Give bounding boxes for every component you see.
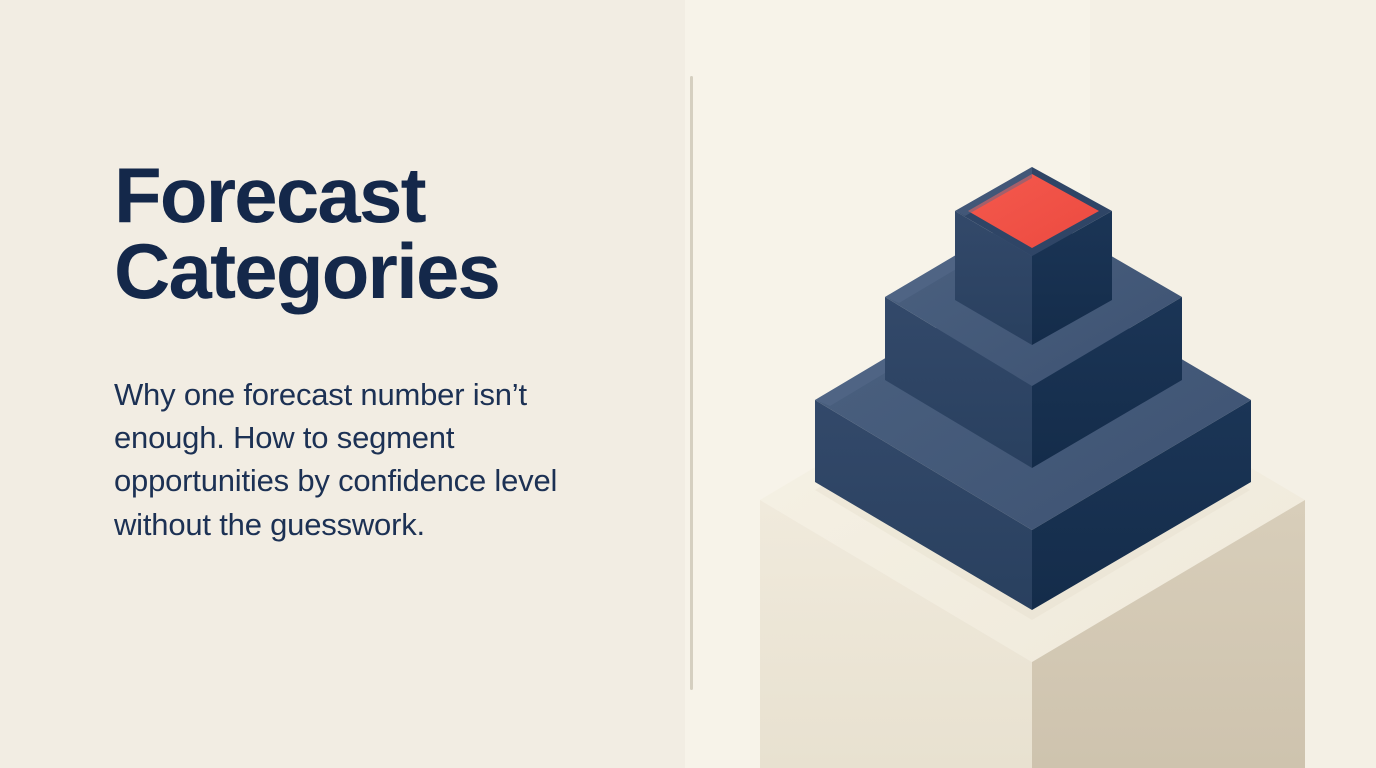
page-title: Forecast Categories	[114, 158, 614, 309]
pyramid-icon	[685, 0, 1376, 768]
pyramid-illustration	[685, 0, 1376, 768]
text-column: Forecast Categories Why one forecast num…	[114, 158, 614, 546]
slide-root: Forecast Categories Why one forecast num…	[0, 0, 1376, 768]
page-subtitle: Why one forecast number isn’t enough. Ho…	[114, 309, 594, 545]
